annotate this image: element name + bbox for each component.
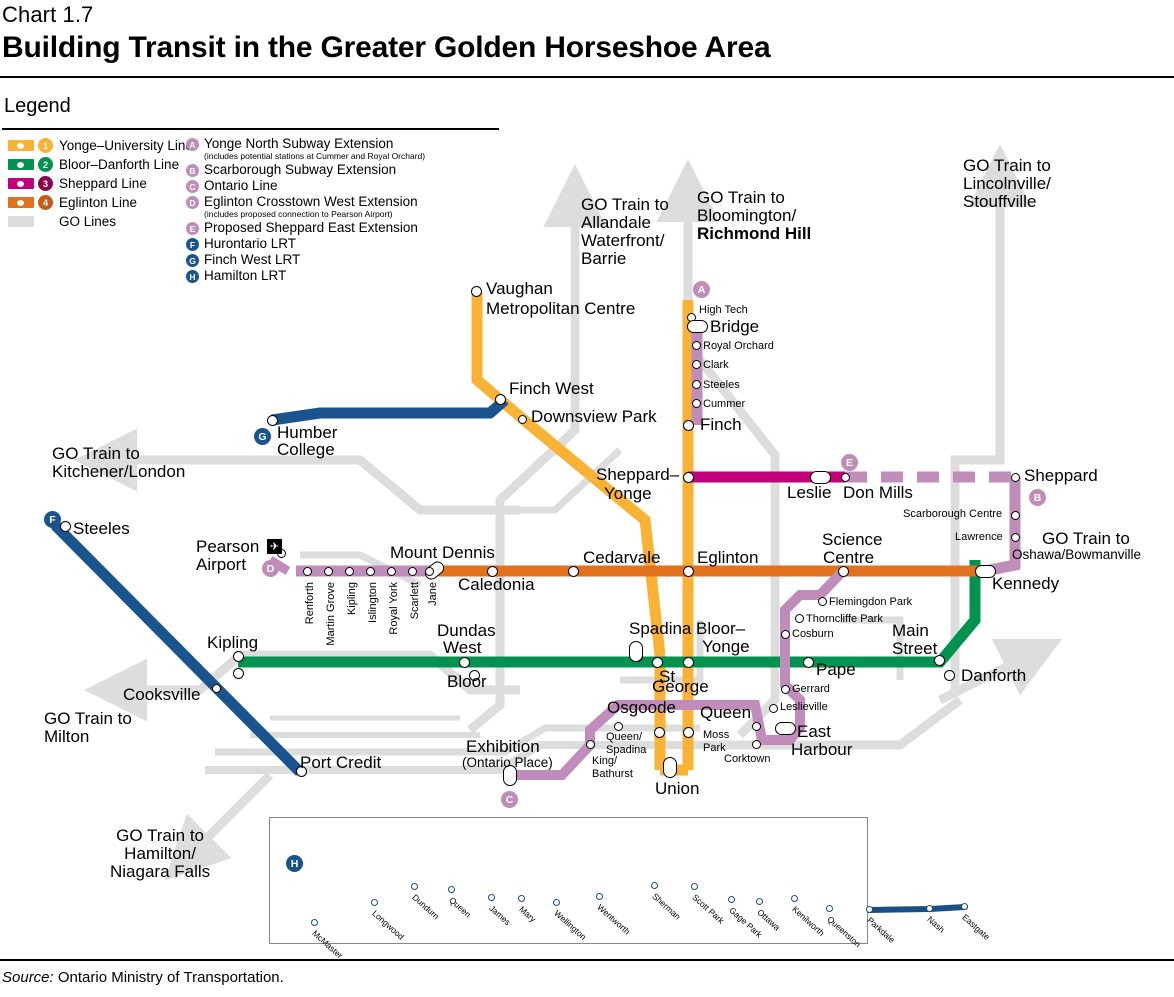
label-pearson-2: Airport [196,556,246,574]
station-osgoode[interactable] [654,727,665,738]
label-main-street: Main [892,622,929,640]
station-finch[interactable] [683,420,694,431]
label-cummer: Cummer [703,398,745,410]
hamilton-station-dot[interactable] [651,882,658,889]
station-cedarvale[interactable] [568,566,579,577]
go-label-richmond-hill: Richmond Hill [697,225,811,243]
station-scarlett[interactable] [408,567,417,576]
label-exhibition-2: (Ontario Place) [462,756,553,770]
station-jane[interactable] [425,567,434,576]
label-steeles-north: Steeles [703,379,740,391]
go-label-allandale: GO Train to Allandale Waterfront/ Barrie [581,196,669,268]
label-sheppard-yonge: Sheppard– [596,466,679,484]
station-flemingdon-park[interactable] [818,597,827,606]
label-finch-west: Finch West [509,380,594,398]
hamilton-station-dot[interactable] [518,895,525,902]
station-leslieville[interactable] [769,704,778,713]
label-thorncliffe-park: Thorncliffe Park [806,613,883,625]
hamilton-station-dot[interactable] [961,903,968,910]
marker-f[interactable]: F [44,511,61,528]
label-queen-spadina: Queen/ [606,731,642,743]
station-sheppard-scarborough[interactable] [1011,473,1020,482]
station-bloor-yonge[interactable] [683,657,694,668]
go-label-lincolnville: GO Train to Lincolnville/ Stouffville [963,157,1051,211]
go-lines-group [110,180,1030,855]
go-label-oshawa-dest: Oshawa/Bowmanville [1012,548,1141,562]
go-label-kitchener: GO Train to Kitchener/London [52,445,185,481]
go-label-oshawa: GO Train to [1042,530,1130,548]
label-danforth: Danforth [961,667,1026,685]
station-cosburn[interactable] [781,630,790,639]
label-scarborough-centre: Scarborough Centre [903,508,1002,520]
label-st-george-2: George [652,678,709,696]
station-thorncliffe-park[interactable] [795,614,804,623]
hamilton-station-dot[interactable] [448,886,455,893]
label-corktown: Corktown [724,753,770,765]
station-finch-west[interactable] [495,394,506,405]
station-east-harbour[interactable] [775,722,796,735]
go-label-milton: GO Train to Milton [44,710,132,746]
label-eglinton: Eglinton [697,549,758,567]
label-caledonia: Caledonia [458,576,535,594]
station-king-bathurst[interactable] [586,740,595,749]
label-clark: Clark [703,359,729,371]
label-main-street-2: Street [892,640,937,658]
label-high-tech: High Tech [699,304,748,316]
label-port-credit: Port Credit [300,754,381,772]
label-dundas-west-2: West [443,639,481,657]
go-label-hamilton-niagara: GO Train to Hamilton/ Niagara Falls [110,827,210,881]
label-science-centre-2: Centre [823,549,874,567]
station-moss-park[interactable] [752,722,761,731]
label-cosburn: Cosburn [792,628,834,640]
label-leslieville: Leslieville [780,701,828,713]
label-don-mills: Don Mills [843,484,913,502]
label-bloor-yonge: Bloor– [696,620,745,638]
label-flemingdon-park: Flemingdon Park [829,596,912,608]
label-lawrence: Lawrence [955,531,1003,543]
label-martin-grove: Martin Grove [322,582,340,646]
station-vaughan[interactable] [471,286,482,297]
hamilton-station-dot[interactable] [371,899,378,906]
hamilton-station-dot[interactable] [411,883,418,890]
hamilton-station-dot[interactable] [488,894,495,901]
station-science-centre[interactable] [838,566,849,577]
hamilton-station-dot[interactable] [791,895,798,902]
scarborough-extension [985,477,1015,571]
label-cedarvale: Cedarvale [583,549,661,567]
label-jane: Jane [424,582,442,606]
label-pearson: Pearson [196,538,259,556]
airplane-icon: ✈ [267,539,282,554]
label-leslie: Leslie [787,484,831,502]
station-scarborough-centre[interactable] [1011,511,1020,520]
label-bridge: Bridge [710,318,759,336]
label-royal-york: Royal York [385,582,403,635]
label-pape: Pape [816,661,856,679]
station-dundas-west[interactable] [459,657,470,668]
marker-h[interactable]: H [286,855,303,872]
label-osgoode: Osgoode [607,699,676,717]
label-kipling-ecwe: Kipling [343,582,361,615]
label-vaughan: Vaughan [486,280,553,298]
station-gerrard[interactable] [781,685,790,694]
hamilton-station-dot[interactable] [826,905,833,912]
station-sheppard-yonge[interactable] [683,472,694,483]
label-kipling: Kipling [207,634,258,652]
station-eglinton[interactable] [683,566,694,577]
label-islington: Islington [364,582,382,623]
hamilton-station-dot[interactable] [691,883,698,890]
station-steeles-north[interactable] [692,380,701,389]
marker-g[interactable]: G [254,428,271,445]
station-corktown[interactable] [752,740,761,749]
hamilton-station-dot[interactable] [311,919,318,926]
label-east-harbour-2: Harbour [791,741,852,759]
label-sheppard-yonge-2: Yonge [604,485,652,503]
station-queen[interactable] [683,727,694,738]
label-royal-orchard: Royal Orchard [703,340,774,352]
label-east-harbour: East [797,723,831,741]
station-downsview-park[interactable] [518,415,527,424]
label-bloor: Bloor [447,673,487,691]
hamilton-station-dot[interactable] [926,905,933,912]
station-kipling-ecwe[interactable] [345,567,354,576]
transit-map-page: Chart 1.7 Building Transit in the Greate… [0,0,1174,997]
hamilton-station-dot[interactable] [866,906,873,913]
label-union: Union [655,780,699,798]
label-downsview-park: Downsview Park [531,408,657,426]
label-king-bathurst: King/ [592,755,617,767]
label-gerrard: Gerrard [792,683,830,695]
station-martin-grove[interactable] [324,567,333,576]
station-don-mills[interactable] [841,473,850,482]
label-spadina: Spadina [629,620,691,638]
station-bridge[interactable] [687,320,708,333]
station-islington[interactable] [366,567,375,576]
marker-b[interactable]: B [1029,489,1046,506]
label-scarlett: Scarlett [406,582,424,619]
go-label-bloomington: GO Train to Bloomington/ [697,189,796,225]
station-clark[interactable] [692,360,701,369]
station-kipling[interactable] [233,651,244,662]
label-queen: Queen [700,704,751,722]
hamilton-station-dot[interactable] [756,898,763,905]
label-steeles-hurontario: Steeles [73,520,130,538]
station-renforth[interactable] [303,567,312,576]
label-vaughan-2: Metropolitan Centre [486,300,635,318]
hamilton-station-dot[interactable] [553,899,560,906]
label-humber-college-2: College [277,441,335,459]
marker-e[interactable]: E [841,454,858,471]
station-royal-york[interactable] [387,567,396,576]
label-kennedy: Kennedy [992,575,1059,593]
label-sheppard-east: Sheppard [1024,467,1098,485]
station-kipling-lower[interactable] [233,668,244,679]
station-danforth-go[interactable] [944,670,955,681]
hamilton-station-dot[interactable] [728,896,735,903]
label-exhibition: Exhibition [466,738,540,756]
marker-c[interactable]: C [501,791,518,808]
label-finch: Finch [700,416,742,434]
station-union[interactable] [663,757,677,778]
marker-d[interactable]: D [262,560,279,577]
label-king-bathurst-2: Bathurst [592,768,633,780]
station-pape[interactable] [803,657,814,668]
finch-west-lrt [272,400,505,420]
station-queen-spadina[interactable] [614,722,623,731]
label-bloor-yonge-2: Yonge [702,638,750,656]
label-moss-park: Moss [703,729,729,741]
station-cummer[interactable] [692,399,701,408]
station-lawrence-east[interactable] [1011,533,1020,542]
label-mount-dennis: Mount Dennis [390,544,495,562]
station-cooksville[interactable] [212,684,221,693]
label-renforth: Renforth [301,582,319,624]
label-cooksville: Cooksville [123,686,200,704]
station-st-george[interactable] [629,641,643,662]
hamilton-station-dot[interactable] [596,893,603,900]
label-moss-park-2: Park [703,742,726,754]
label-science-centre: Science [822,531,882,549]
station-royal-orchard[interactable] [692,341,701,350]
marker-a[interactable]: A [693,281,710,298]
station-steeles-hurontario[interactable] [60,521,71,532]
